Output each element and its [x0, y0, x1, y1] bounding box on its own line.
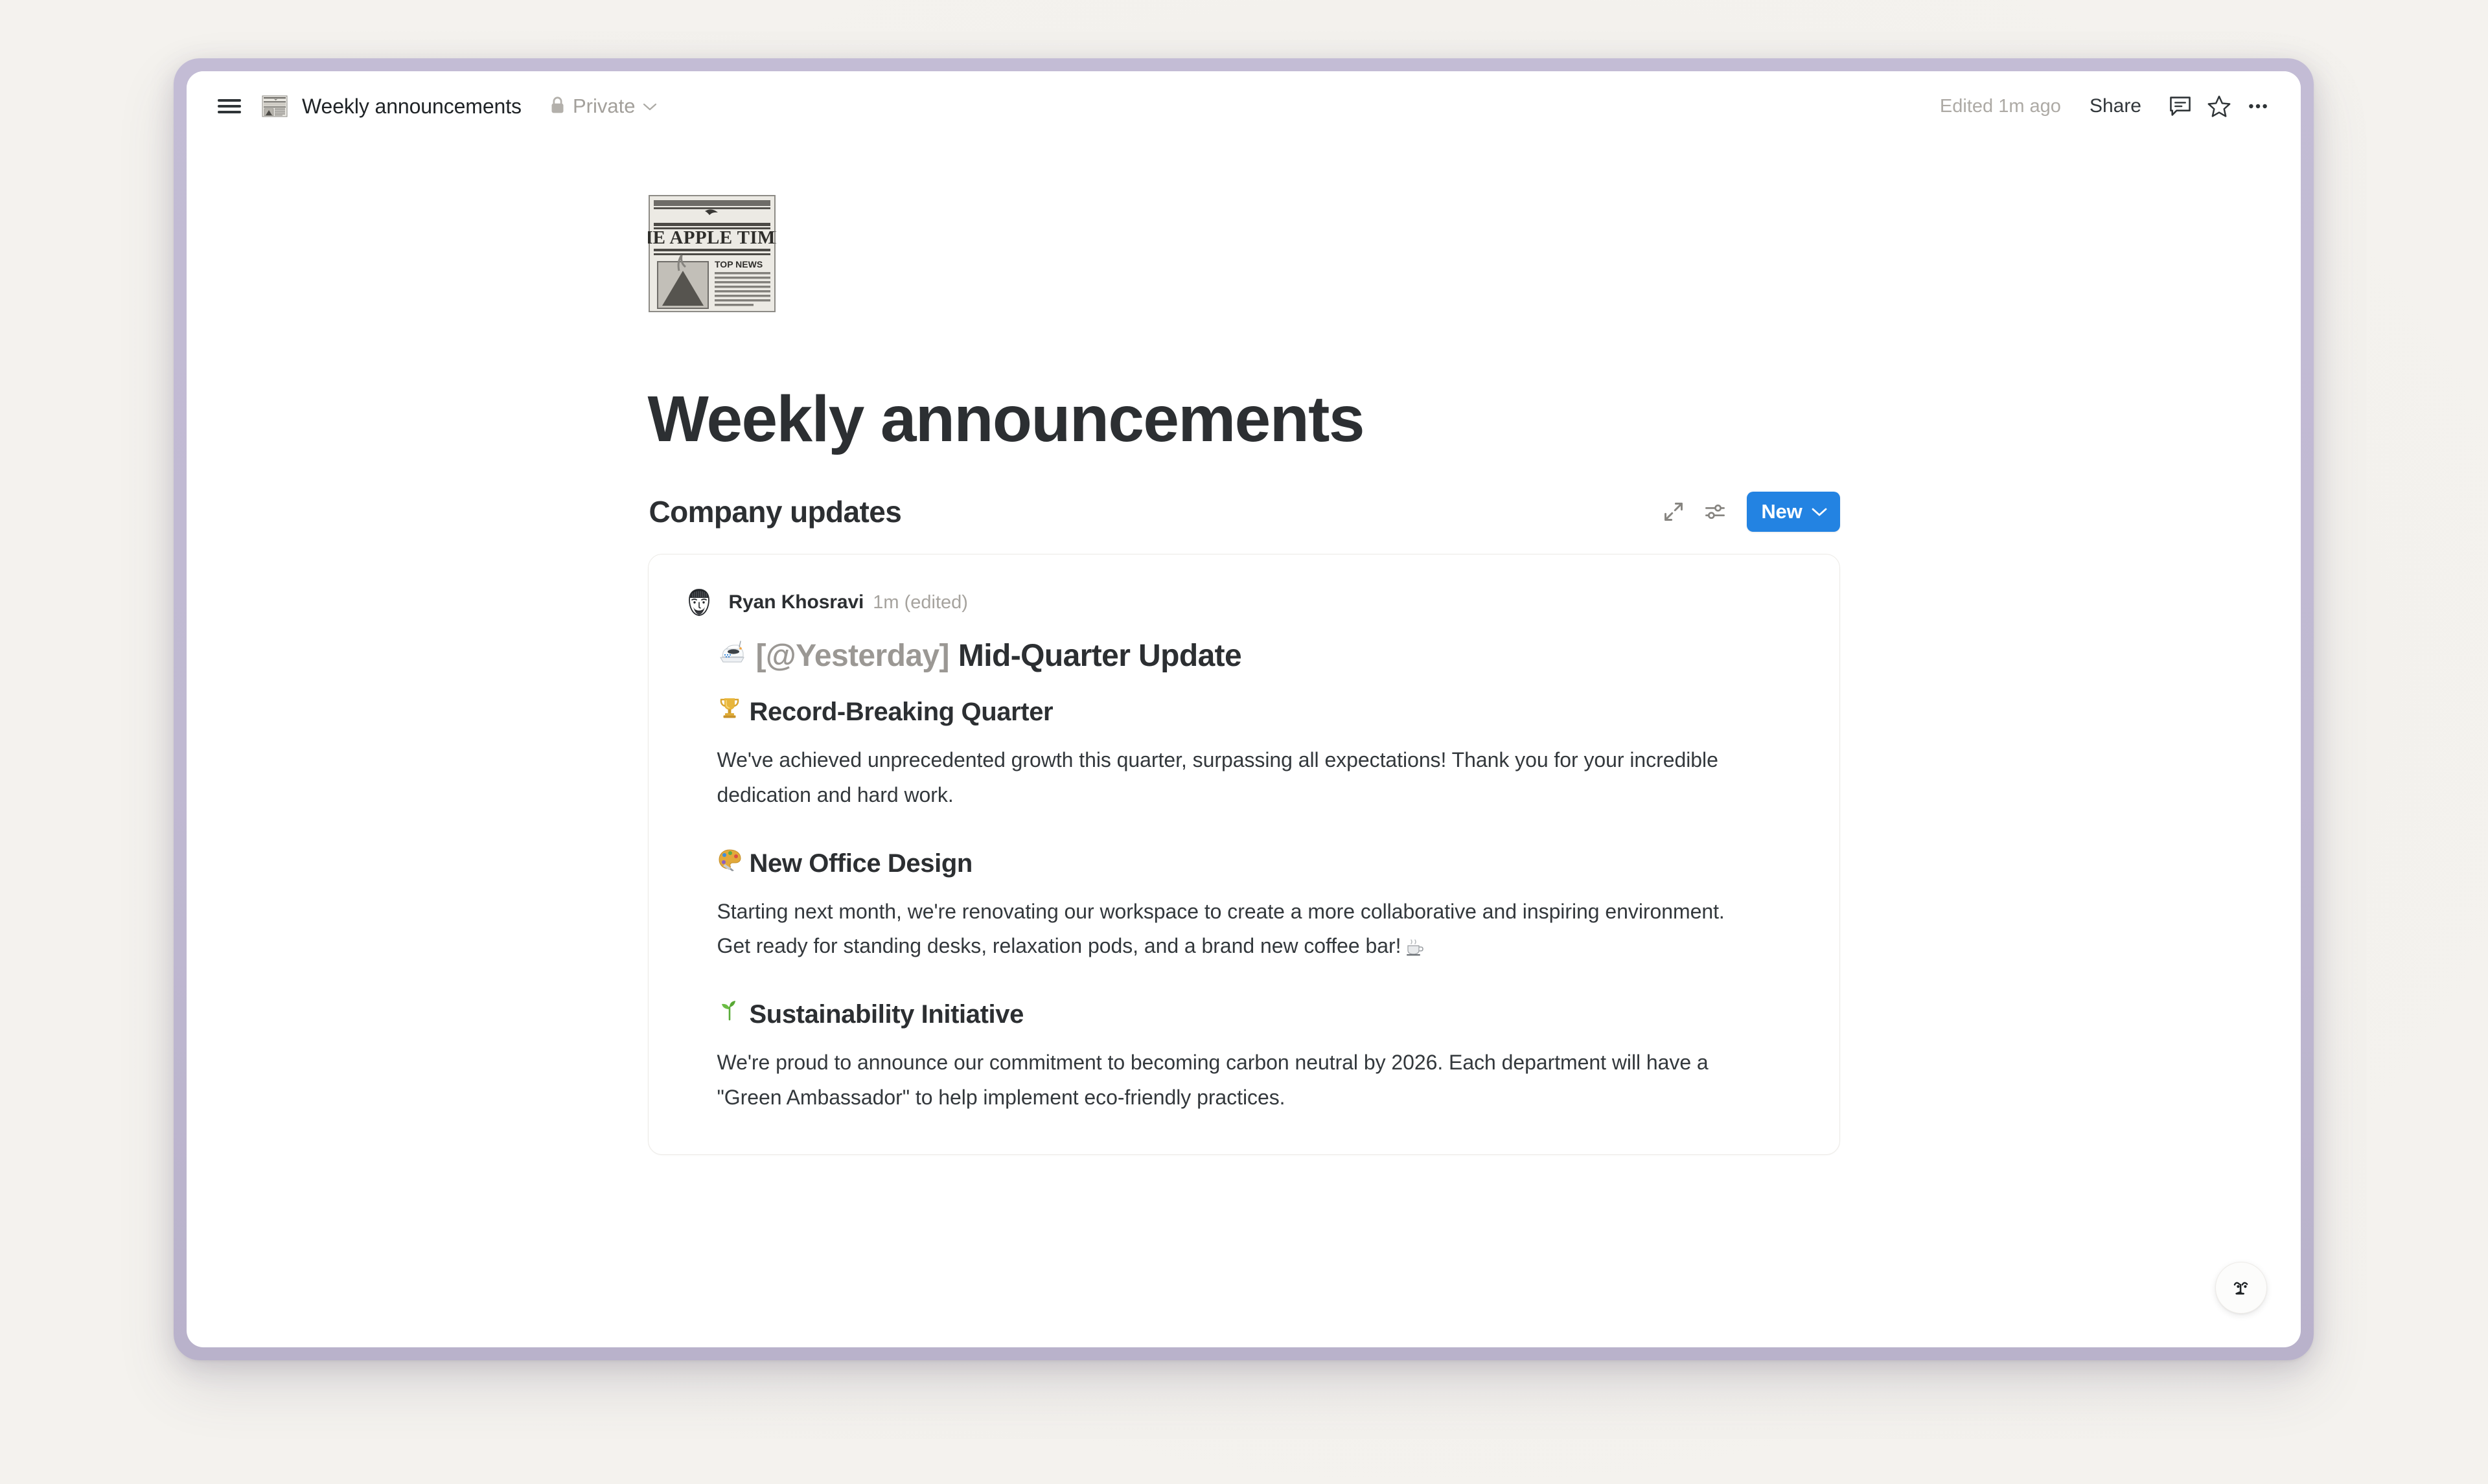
privacy-label: Private — [573, 95, 635, 118]
page-content: THE APPLE TIMES TOP NEWS — [648, 141, 1840, 1155]
hamburger-bar — [218, 99, 241, 102]
notion-ai-face-icon[interactable] — [2215, 1262, 2267, 1314]
section-body-text: Starting next month, we're renovating ou… — [717, 900, 1725, 958]
window-frame: Weekly announcements Private — [174, 58, 2314, 1360]
edited-timestamp[interactable]: Edited 1m ago — [1940, 96, 2061, 117]
share-button[interactable]: Share — [2080, 89, 2150, 124]
post-body: [@Yesterday] Mid-Quarter Update — [684, 636, 1804, 1115]
post-timestamp: 1m (edited) — [873, 592, 968, 613]
svg-text:TOP NEWS: TOP NEWS — [715, 259, 763, 269]
section-heading-label: Record-Breaking Quarter — [750, 695, 1054, 729]
artist-palette-emoji — [717, 847, 742, 871]
lock-icon — [549, 95, 566, 118]
topbar-left-group: Weekly announcements Private — [211, 88, 1940, 124]
chevron-down-icon[interactable] — [1803, 492, 1836, 532]
new-button[interactable]: New — [1747, 492, 1839, 532]
post-heading[interactable]: [@Yesterday] Mid-Quarter Update — [717, 636, 1804, 676]
hamburger-menu-icon[interactable] — [211, 88, 248, 124]
desktop-backdrop: Weekly announcements Private — [0, 0, 2488, 1484]
privacy-selector[interactable]: Private — [542, 91, 663, 121]
chevron-down-icon — [643, 98, 657, 115]
expand-diagonal-icon[interactable] — [1655, 493, 1692, 531]
post-heading-mention: [@Yesterday] — [756, 637, 949, 676]
database-actions: New — [1655, 492, 1839, 532]
feed-card[interactable]: Ryan Khosravi 1m (edited) — [648, 554, 1840, 1155]
topbar: Weekly announcements Private — [187, 71, 2301, 141]
new-button-label: New — [1761, 500, 1802, 523]
trophy-emoji — [717, 695, 742, 720]
avatar[interactable] — [684, 587, 715, 618]
star-icon[interactable] — [2200, 87, 2239, 126]
more-options-icon[interactable] — [2239, 87, 2277, 126]
post-section-heading[interactable]: Sustainability Initiative — [717, 998, 1804, 1031]
newspaper-emoji[interactable] — [262, 93, 288, 119]
section-body[interactable]: We've achieved unprecedented growth this… — [717, 743, 1728, 813]
post-heading-text: Mid-Quarter Update — [958, 637, 1241, 676]
section-heading-label: New Office Design — [750, 847, 973, 880]
hamburger-bar — [218, 111, 241, 113]
svg-text:THE APPLE TIMES: THE APPLE TIMES — [648, 227, 776, 248]
section-heading-label: Sustainability Initiative — [750, 998, 1024, 1031]
database-title[interactable]: Company updates — [649, 494, 902, 529]
page-icon-newspaper-emoji[interactable]: THE APPLE TIMES TOP NEWS — [648, 194, 776, 313]
notion-app-window: Weekly announcements Private — [187, 71, 2301, 1347]
breadcrumb[interactable]: Weekly announcements — [297, 92, 527, 121]
post-author[interactable]: Ryan Khosravi — [729, 591, 864, 613]
hamburger-bar — [218, 105, 241, 108]
page-title[interactable]: Weekly announcements — [648, 383, 1840, 455]
database-header: Company updates — [648, 492, 1840, 532]
topbar-right-group: Edited 1m ago Share — [1940, 87, 2277, 126]
motor-boat-emoji — [717, 636, 747, 666]
filter-sliders-icon[interactable] — [1696, 493, 1734, 531]
comment-bubble-icon[interactable] — [2161, 87, 2200, 126]
hot-beverage-emoji — [1405, 933, 1424, 952]
seedling-emoji — [717, 998, 742, 1022]
post-section-heading[interactable]: Record-Breaking Quarter — [717, 695, 1804, 729]
post-section-heading[interactable]: New Office Design — [717, 847, 1804, 880]
post-meta: Ryan Khosravi 1m (edited) — [684, 587, 1804, 618]
page-scroll-area[interactable]: THE APPLE TIMES TOP NEWS — [187, 141, 2301, 1347]
section-body[interactable]: Starting next month, we're renovating ou… — [717, 895, 1728, 965]
section-body[interactable]: We're proud to announce our commitment t… — [717, 1045, 1728, 1115]
